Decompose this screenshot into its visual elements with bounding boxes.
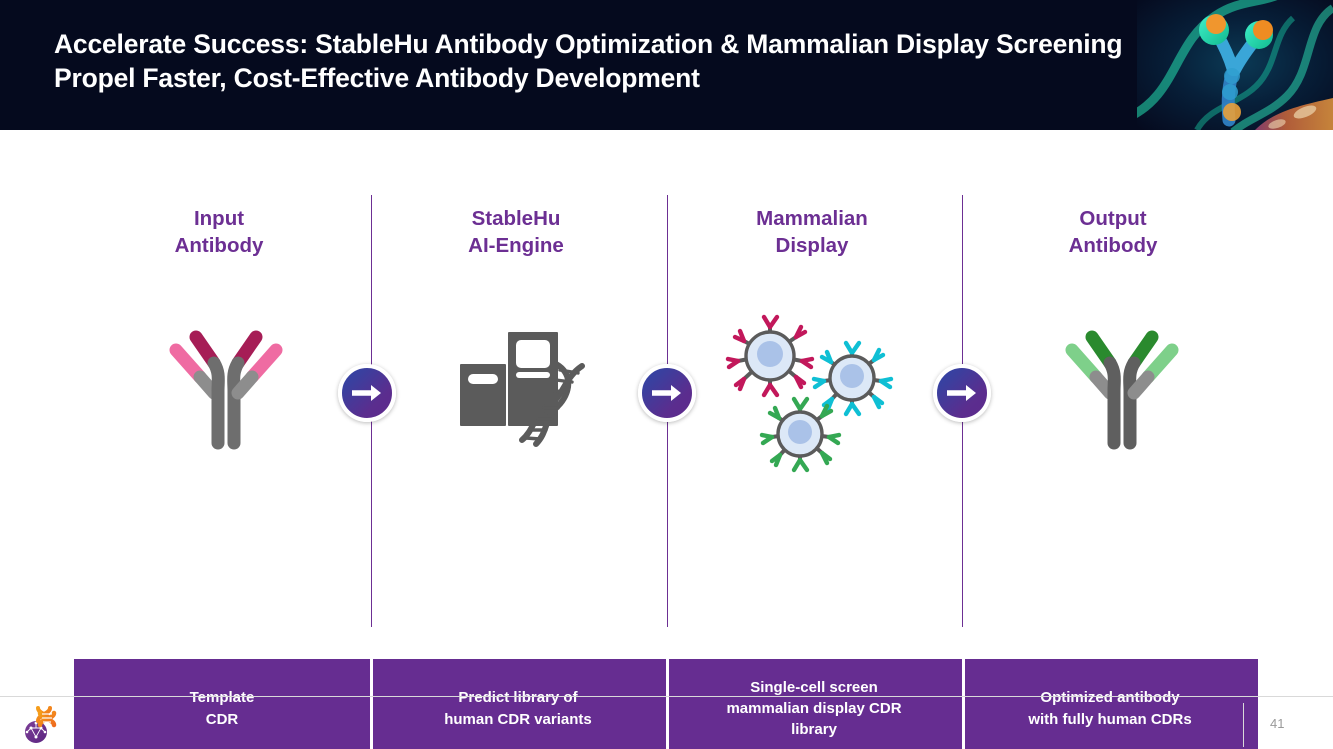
column-heading-line2: Antibody xyxy=(968,232,1258,259)
arrow-2-button[interactable] xyxy=(638,364,696,422)
page-number: 41 xyxy=(1270,716,1310,731)
antibody-pink-icon xyxy=(144,315,294,460)
caption-stablehu-ai-engine: Predict library of human CDR variants xyxy=(370,659,666,749)
slide-header: Accelerate Success: StableHu Antibody Op… xyxy=(0,0,1333,130)
antibody-green-icon xyxy=(1040,315,1190,460)
column-heading-line2: AI-Engine xyxy=(371,232,661,259)
arrow-1-button[interactable] xyxy=(338,364,396,422)
column-heading-line1: Output xyxy=(968,205,1258,232)
arrow-3-button[interactable] xyxy=(933,364,991,422)
dna-network-logo xyxy=(20,705,68,745)
arrow-right-icon xyxy=(652,384,682,402)
column-heading-output-antibody: Output Antibody xyxy=(968,205,1258,259)
caption-output-antibody: Optimized antibody with fully human CDRs xyxy=(962,659,1258,749)
page-number-divider xyxy=(1243,703,1244,747)
slide: Accelerate Success: StableHu Antibody Op… xyxy=(0,0,1333,749)
server-dna-icon xyxy=(452,320,612,460)
column-heading-line2: Antibody xyxy=(74,232,364,259)
arrow-right-icon xyxy=(947,384,977,402)
column-heading-input-antibody: Input Antibody xyxy=(74,205,364,259)
caption-bar: Template CDR Predict library of human CD… xyxy=(74,659,1258,749)
display-cells-icon xyxy=(722,305,902,475)
column-heading-line1: StableHu xyxy=(371,205,661,232)
column-heading-line1: Input xyxy=(74,205,364,232)
slide-title: Accelerate Success: StableHu Antibody Op… xyxy=(54,27,1204,96)
footer-divider xyxy=(0,696,1333,697)
caption-mammalian-display: Single-cell screen mammalian display CDR… xyxy=(666,659,962,749)
column-heading-mammalian-display: Mammalian Display xyxy=(667,205,957,259)
column-heading-line2: Display xyxy=(667,232,957,259)
caption-input-antibody: Template CDR xyxy=(74,659,370,749)
arrow-right-icon xyxy=(352,384,382,402)
process-diagram: Input Antibody StableHu AI-Engine Mammal… xyxy=(0,130,1333,670)
column-heading-line1: Mammalian xyxy=(667,205,957,232)
column-heading-stablehu-ai-engine: StableHu AI-Engine xyxy=(371,205,661,259)
